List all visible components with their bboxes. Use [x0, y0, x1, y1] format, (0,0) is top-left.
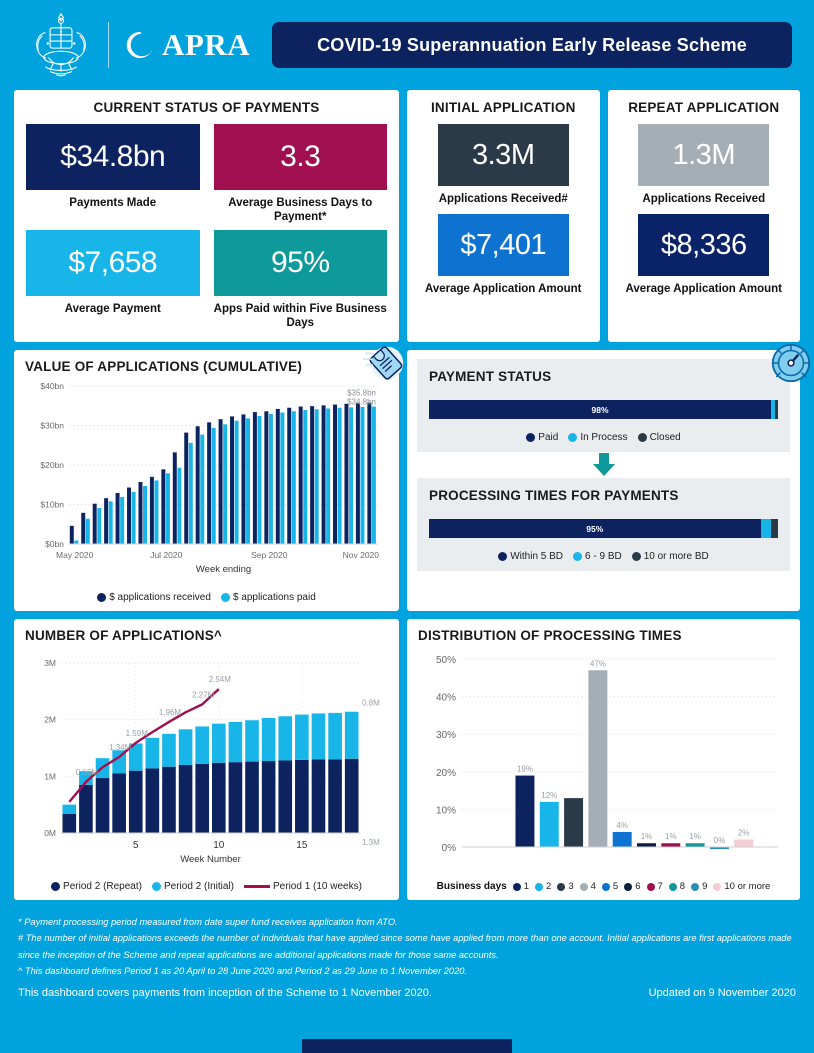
legend-title: Business days	[437, 881, 507, 892]
legend-label: Within 5 BD	[510, 551, 563, 562]
footnote-asterisk: * Payment processing period measured fro…	[18, 914, 796, 930]
svg-text:$30bn: $30bn	[40, 421, 64, 431]
svg-text:Sep 2020: Sep 2020	[251, 550, 288, 560]
current-status-panel: CURRENT STATUS OF PAYMENTS $34.8bn Payme…	[14, 90, 399, 342]
distribution-chart-title: DISTRIBUTION OF PROCESSING TIMES	[418, 628, 789, 643]
svg-text:Nov 2020: Nov 2020	[343, 550, 380, 560]
svg-text:1%: 1%	[641, 832, 653, 841]
segment-6-9bd	[761, 519, 771, 538]
legend-label: 2	[546, 881, 551, 892]
value-chart-legend: $ applications received $ applications p…	[25, 592, 388, 603]
kpi-label: Average Business Days to Payment*	[214, 196, 388, 224]
svg-text:20%: 20%	[436, 768, 456, 779]
legend-label: Period 2 (Repeat)	[63, 881, 142, 892]
svg-text:5: 5	[133, 840, 139, 851]
svg-text:0%: 0%	[442, 843, 457, 854]
number-of-applications-chart: 0M1M2M3M0.66M1.34M1.59M1.96M2.27M2.54M51…	[25, 645, 386, 873]
legend-item-received: $ applications received	[97, 592, 211, 603]
footer-row: This dashboard covers payments from ince…	[0, 979, 814, 999]
legend-label: 6 - 9 BD	[585, 551, 622, 562]
distribution-panel: DISTRIBUTION OF PROCESSING TIMES 0%10%20…	[407, 619, 800, 900]
repeat-value-box: $8,336	[638, 214, 769, 276]
initial-apps-received: 3.3M Applications Received#	[419, 124, 588, 214]
kpi-payments-made: $34.8bn Payments Made	[26, 124, 200, 224]
repeat-panel-title: REPEAT APPLICATION	[620, 100, 789, 115]
processing-times-legend: Within 5 BD 6 - 9 BD 10 or more BD	[429, 551, 778, 562]
legend-dot-icon	[713, 883, 721, 891]
processing-times-card: PROCESSING TIMES FOR PAYMENTS 95% Within…	[417, 478, 790, 571]
number-of-applications-panel: NUMBER OF APPLICATIONS^ 0M1M2M3M0.66M1.3…	[14, 619, 399, 900]
legend-label: 10 or more	[724, 881, 770, 892]
number-chart-title: NUMBER OF APPLICATIONS^	[25, 628, 388, 643]
initial-panel-title: INITIAL APPLICATION	[419, 100, 588, 115]
legend-item-bd-9: 9	[691, 881, 707, 892]
legend-dot-icon	[97, 593, 106, 602]
legend-label: Paid	[538, 432, 558, 443]
legend-label: 8	[680, 881, 685, 892]
legend-dot-icon	[557, 883, 565, 891]
svg-text:$40bn: $40bn	[40, 381, 64, 391]
svg-text:0%: 0%	[714, 836, 726, 845]
svg-text:1.34M: 1.34M	[109, 743, 132, 752]
payment-status-bar: 98%	[429, 400, 778, 419]
legend-dot-icon	[568, 433, 577, 442]
svg-text:$0bn: $0bn	[45, 539, 64, 549]
svg-text:$34.8bn: $34.8bn	[347, 398, 376, 407]
legend-dot-icon	[152, 882, 161, 891]
kpi-avg-business-days: 3.3 Average Business Days to Payment*	[214, 124, 388, 224]
legend-label: 5	[613, 881, 618, 892]
kpi-value-box: $7,658	[26, 230, 200, 296]
repeat-value-box: 1.3M	[638, 124, 769, 186]
repeat-label: Average Application Amount	[625, 282, 782, 296]
svg-text:$20bn: $20bn	[40, 460, 64, 470]
legend-dot-icon	[573, 552, 582, 561]
segment-closed	[775, 400, 778, 419]
legend-item-10-or-more-bd: 10 or more BD	[632, 551, 709, 562]
kpi-value-box: $34.8bn	[26, 124, 200, 190]
svg-text:Jul 2020: Jul 2020	[150, 550, 182, 560]
initial-value-box: $7,401	[438, 214, 569, 276]
legend-label: 9	[702, 881, 707, 892]
svg-text:1.96M: 1.96M	[159, 708, 182, 717]
segment-within-5bd: 95%	[429, 519, 761, 538]
legend-item-bd-6: 6	[624, 881, 640, 892]
kpi-grid: $34.8bn Payments Made 3.3 Average Busine…	[26, 124, 387, 330]
svg-text:2.54M: 2.54M	[209, 675, 232, 684]
kpi-panel-title: CURRENT STATUS OF PAYMENTS	[26, 100, 387, 115]
legend-dot-icon	[647, 883, 655, 891]
value-of-applications-panel: VALUE OF APPLICATIONS (CUMULATIVE) $0bn$…	[14, 350, 399, 611]
repeat-application-panel: REPEAT APPLICATION 1.3M Applications Rec…	[608, 90, 801, 342]
arrow-connector	[417, 452, 790, 478]
legend-item-bd-3: 3	[557, 881, 573, 892]
legend-line-icon	[244, 885, 270, 888]
legend-label: 4	[591, 881, 596, 892]
coverage-text: This dashboard covers payments from ince…	[18, 987, 432, 999]
charts-row-1: VALUE OF APPLICATIONS (CUMULATIVE) $0bn$…	[0, 350, 814, 619]
svg-text:15: 15	[296, 840, 308, 851]
legend-label: $ applications paid	[233, 592, 316, 603]
title-banner: COVID-19 Superannuation Early Release Sc…	[272, 22, 792, 68]
legend-label: 1	[524, 881, 529, 892]
svg-text:40%: 40%	[436, 693, 456, 704]
document-tag-icon	[362, 340, 408, 386]
legend-label: Closed	[650, 432, 681, 443]
legend-dot-icon	[624, 883, 632, 891]
apra-logo: APRA	[125, 27, 250, 63]
processing-times-bar: 95%	[429, 519, 778, 538]
legend-dot-icon	[669, 883, 677, 891]
legend-label: 10 or more BD	[644, 551, 709, 562]
legend-item-bd-7: 7	[647, 881, 663, 892]
svg-text:1.59M: 1.59M	[126, 729, 149, 738]
payment-status-legend: Paid In Process Closed	[429, 432, 778, 443]
header-divider	[108, 22, 109, 68]
svg-text:2.27M: 2.27M	[192, 690, 215, 699]
legend-dot-icon	[51, 882, 60, 891]
svg-text:4%: 4%	[616, 821, 628, 830]
segment-paid: 98%	[429, 400, 771, 419]
page-header: APRA COVID-19 Superannuation Early Relea…	[0, 0, 814, 90]
legend-item-closed: Closed	[638, 432, 681, 443]
legend-dot-icon	[535, 883, 543, 891]
legend-item-6-9bd: 6 - 9 BD	[573, 551, 622, 562]
svg-text:50%: 50%	[436, 655, 456, 666]
apra-circle-mark-icon	[125, 30, 155, 60]
svg-text:47%: 47%	[590, 659, 606, 668]
legend-dot-icon	[638, 433, 647, 442]
down-arrow-icon	[591, 453, 617, 477]
australian-coat-of-arms-icon	[22, 9, 100, 81]
legend-label: In Process	[580, 432, 627, 443]
footnote-hash: # The number of initial applications exc…	[18, 930, 796, 963]
legend-item-bd-4: 4	[580, 881, 596, 892]
svg-text:Week ending: Week ending	[196, 564, 251, 575]
legend-item-period2-repeat: Period 2 (Repeat)	[51, 881, 142, 892]
updated-text: Updated on 9 November 2020	[649, 987, 796, 999]
initial-avg-amount: $7,401 Average Application Amount	[419, 214, 588, 304]
legend-item-paid: $ applications paid	[221, 592, 316, 603]
kpi-average-payment: $7,658 Average Payment	[26, 230, 200, 330]
value-of-applications-chart: $0bn$10bn$20bn$30bn$40bnMay 2020Jul 2020…	[25, 376, 386, 584]
svg-text:3M: 3M	[44, 658, 56, 668]
legend-item-period1-line: Period 1 (10 weeks)	[244, 881, 362, 892]
legend-dot-icon	[580, 883, 588, 891]
svg-text:19%: 19%	[517, 765, 533, 774]
initial-application-panel: INITIAL APPLICATION 3.3M Applications Re…	[407, 90, 600, 342]
legend-dot-icon	[513, 883, 521, 891]
svg-text:2M: 2M	[44, 715, 56, 725]
legend-item-period2-initial: Period 2 (Initial)	[152, 881, 234, 892]
svg-text:0.8M: 0.8M	[362, 699, 380, 708]
distribution-legend: Business days 12345678910 or more	[418, 881, 789, 892]
page-title: COVID-19 Superannuation Early Release Sc…	[317, 35, 747, 56]
repeat-apps-received: 1.3M Applications Received	[620, 124, 789, 214]
svg-text:1M: 1M	[44, 771, 56, 781]
kpi-label: Apps Paid within Five Business Days	[214, 302, 388, 330]
svg-text:1.3M: 1.3M	[362, 838, 380, 847]
initial-label: Average Application Amount	[425, 282, 582, 296]
segment-10-or-more-bd	[771, 519, 778, 538]
svg-text:30%: 30%	[436, 730, 456, 741]
legend-label: 6	[635, 881, 640, 892]
legend-dot-icon	[221, 593, 230, 602]
legend-dot-icon	[498, 552, 507, 561]
payment-status-card: PAYMENT STATUS 98% Paid In Process Close…	[417, 359, 790, 452]
svg-text:$10bn: $10bn	[40, 500, 64, 510]
footnote-caret: ^ This dashboard defines Period 1 as 20 …	[18, 963, 796, 979]
legend-item-bd-8: 8	[669, 881, 685, 892]
initial-label: Applications Received#	[439, 192, 568, 206]
repeat-label: Applications Received	[642, 192, 765, 206]
legend-label: $ applications received	[109, 592, 211, 603]
legend-item-paid: Paid	[526, 432, 558, 443]
kpi-value-box: 3.3	[214, 124, 388, 190]
payment-status-title: PAYMENT STATUS	[429, 369, 778, 384]
speedometer-icon	[768, 340, 814, 386]
svg-text:1%: 1%	[689, 832, 701, 841]
value-chart-title: VALUE OF APPLICATIONS (CUMULATIVE)	[25, 359, 388, 374]
bottom-bar	[302, 1039, 512, 1053]
apra-wordmark: APRA	[162, 27, 250, 63]
legend-item-bd-2: 2	[535, 881, 551, 892]
legend-item-bd-5: 5	[602, 881, 618, 892]
legend-dot-icon	[691, 883, 699, 891]
svg-text:Week Number: Week Number	[180, 854, 241, 865]
distribution-chart: 0%10%20%30%40%50%19%12%47%4%1%1%1%0%2%	[418, 645, 788, 873]
legend-label: Period 1 (10 weeks)	[273, 881, 362, 892]
initial-value-box: 3.3M	[438, 124, 569, 186]
footnotes: * Payment processing period measured fro…	[0, 908, 814, 979]
legend-dot-icon	[526, 433, 535, 442]
svg-text:10%: 10%	[436, 805, 456, 816]
number-chart-legend: Period 2 (Repeat) Period 2 (Initial) Per…	[25, 881, 388, 892]
repeat-avg-amount: $8,336 Average Application Amount	[620, 214, 789, 304]
legend-label: 3	[568, 881, 573, 892]
kpi-apps-paid-five-days: 95% Apps Paid within Five Business Days	[214, 230, 388, 330]
legend-item-bd-10-or-more: 10 or more	[713, 881, 770, 892]
svg-text:12%: 12%	[541, 791, 557, 800]
kpi-value-box: 95%	[214, 230, 388, 296]
svg-text:May 2020: May 2020	[56, 550, 94, 560]
svg-text:$35.8bn: $35.8bn	[347, 389, 376, 398]
processing-times-title: PROCESSING TIMES FOR PAYMENTS	[429, 488, 778, 503]
kpi-label: Average Payment	[65, 302, 161, 316]
kpi-label: Payments Made	[69, 196, 156, 210]
svg-text:10: 10	[213, 840, 225, 851]
svg-text:0.66M: 0.66M	[76, 768, 99, 777]
legend-dot-icon	[632, 552, 641, 561]
status-panel: PAYMENT STATUS 98% Paid In Process Close…	[407, 350, 800, 611]
legend-item-in-process: In Process	[568, 432, 627, 443]
legend-label: Period 2 (Initial)	[164, 881, 234, 892]
svg-text:0M: 0M	[44, 828, 56, 838]
svg-text:1%: 1%	[665, 832, 677, 841]
charts-row-2: NUMBER OF APPLICATIONS^ 0M1M2M3M0.66M1.3…	[0, 619, 814, 908]
legend-label: 7	[658, 881, 663, 892]
legend-item-bd-1: 1	[513, 881, 529, 892]
kpi-row: CURRENT STATUS OF PAYMENTS $34.8bn Payme…	[0, 90, 814, 350]
legend-dot-icon	[602, 883, 610, 891]
legend-item-within-5bd: Within 5 BD	[498, 551, 563, 562]
svg-text:2%: 2%	[738, 829, 750, 838]
